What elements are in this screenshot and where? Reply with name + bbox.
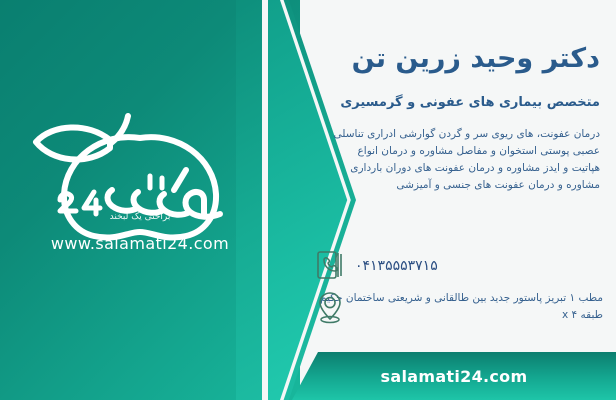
doctor-description: درمان عفونت، های ریوی سر و گردن گوارشی ا… (315, 126, 600, 194)
brand-tagline: براحتی یک لبخند (14, 212, 266, 222)
description-line: هپاتیت و ایدز مشاوره و درمان عفونت های د… (315, 160, 600, 177)
description-line: درمان عفونت، های ریوی سر و گردن گوارشی ا… (315, 126, 600, 143)
phone-row[interactable]: ۰۴۱۳۵۵۵۳۷۱۵ (315, 248, 600, 282)
description-line: مشاوره و درمان عفونت های جنسی و آمیزشی (315, 177, 600, 194)
brand-url[interactable]: www.salamati24.com (14, 234, 266, 253)
location-pin-icon (315, 290, 345, 324)
brand-logo: براحتی یک لبخند www.salamati24.com (14, 104, 266, 282)
business-card: براحتی یک لبخند www.salamati24.com دکتر … (0, 0, 616, 400)
footer-site-url[interactable]: salamati24.com (292, 352, 616, 400)
address-text: مطب ۱ تبریز پاستور جدید بین طالقانی و شر… (355, 290, 603, 325)
footer-bar: salamati24.com (292, 352, 616, 400)
address-row[interactable]: مطب ۱ تبریز پاستور جدید بین طالقانی و شر… (315, 290, 600, 325)
doctor-info: دکتر وحید زرین تن متخصص بیماری های عفونی… (306, 0, 616, 400)
phone-book-icon (315, 248, 345, 282)
doctor-specialty: متخصص بیماری های عفونی و گرمسیری (320, 95, 600, 112)
apple-leaf-icon (14, 104, 266, 244)
doctor-name: دکتر وحید زرین تن (320, 42, 600, 76)
address-line: مطب ۱ تبریز پاستور جدید بین طالقانی و شر… (355, 290, 603, 307)
description-line: عصبی پوستی استخوان و مفاصل مشاوره و درما… (315, 143, 600, 160)
address-line: طبقه ۴ x (355, 307, 603, 324)
phone-number[interactable]: ۰۴۱۳۵۵۵۳۷۱۵ (355, 256, 438, 274)
